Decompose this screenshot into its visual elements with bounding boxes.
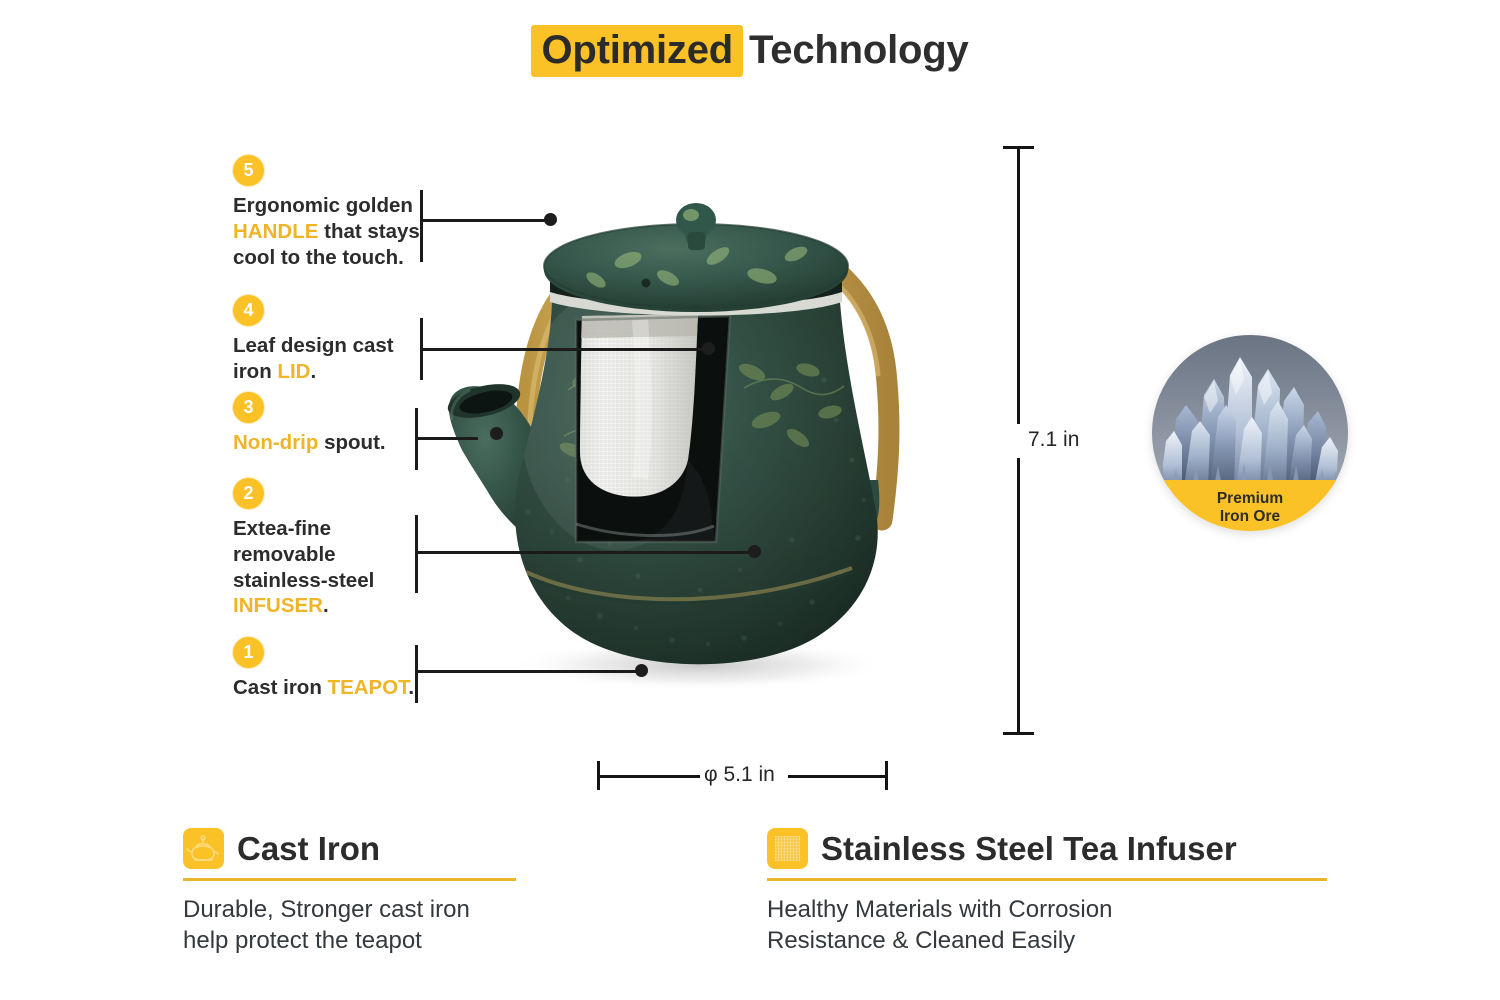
callout-3: 3 Non-drip spout. — [233, 392, 438, 456]
feature-infuser-title: Stainless Steel Tea Infuser — [821, 830, 1237, 868]
page-title: OptimizedTechnology — [0, 28, 1500, 73]
infographic-canvas: OptimizedTechnology — [0, 0, 1500, 1000]
leader-dot-5 — [544, 213, 557, 226]
diameter-dimension-cap-left — [597, 761, 600, 790]
feature-cast-iron-title: Cast Iron — [237, 830, 380, 868]
callout-text-3: Non-drip spout. — [233, 430, 438, 456]
callout-badge-2: 2 — [233, 478, 264, 509]
callout-text-2: Extea-fineremovablestainless-steelINFUSE… — [233, 516, 438, 619]
height-label-backdrop — [1011, 424, 1027, 458]
diameter-dimension-label: φ 5.1 in — [704, 763, 775, 787]
feature-cast-iron: Cast Iron Durable, Stronger cast iron he… — [183, 828, 516, 956]
leader-dot-2 — [748, 545, 761, 558]
feature-cast-iron-desc: Durable, Stronger cast iron help protect… — [183, 894, 516, 956]
height-dimension-label: 7.1 in — [1028, 428, 1079, 452]
ore-label-line2: Iron Ore — [1152, 508, 1348, 525]
leader-line-1 — [415, 670, 638, 673]
callout-text-4: Leaf design castiron LID. — [233, 333, 438, 385]
ore-label-text: Premium Iron Ore — [1152, 490, 1348, 525]
leader-line-5 — [420, 219, 547, 222]
callout-badge-4: 4 — [233, 295, 264, 326]
feature-infuser: Stainless Steel Tea Infuser Healthy Mate… — [767, 828, 1327, 956]
leader-line-4 — [420, 348, 705, 351]
callout-badge-3: 3 — [233, 392, 264, 423]
feature-infuser-rule — [767, 878, 1327, 881]
callout-4: 4 Leaf design castiron LID. — [233, 295, 438, 385]
teapot-icon — [183, 828, 224, 869]
callout-text-1: Cast iron TEAPOT. — [233, 675, 438, 701]
callout-badge-1: 1 — [233, 637, 264, 668]
leader-dot-3 — [490, 427, 503, 440]
height-dimension-cap-top — [1003, 146, 1034, 149]
title-rest: Technology — [749, 28, 969, 72]
feature-infuser-desc: Healthy Materials with Corrosion Resista… — [767, 894, 1327, 956]
feature-cast-iron-rule — [183, 878, 516, 881]
leader-dot-1 — [635, 664, 648, 677]
callout-text-5: Ergonomic goldenHANDLE that stayscool to… — [233, 193, 438, 270]
leader-bracket-5 — [420, 190, 423, 262]
leader-line-3 — [415, 437, 478, 440]
leader-bracket-1 — [415, 645, 418, 703]
leader-line-2 — [415, 551, 751, 554]
feature-infuser-head: Stainless Steel Tea Infuser — [767, 828, 1327, 869]
callout-badge-5: 5 — [233, 155, 264, 186]
leader-bracket-2 — [415, 515, 418, 593]
ore-label-line1: Premium — [1152, 490, 1348, 507]
mesh-icon — [767, 828, 808, 869]
height-dimension-cap-bottom — [1003, 732, 1034, 735]
callout-2: 2 Extea-fineremovablestainless-steelINFU… — [233, 478, 438, 619]
title-highlight: Optimized — [531, 25, 743, 77]
leader-dot-4 — [702, 342, 715, 355]
premium-iron-ore-badge: Premium Iron Ore — [1152, 335, 1348, 531]
callout-5: 5 Ergonomic goldenHANDLE that stayscool … — [233, 155, 438, 270]
diameter-dimension-cap-right — [885, 761, 888, 790]
feature-cast-iron-head: Cast Iron — [183, 828, 516, 869]
callout-1: 1 Cast iron TEAPOT. — [233, 637, 438, 701]
